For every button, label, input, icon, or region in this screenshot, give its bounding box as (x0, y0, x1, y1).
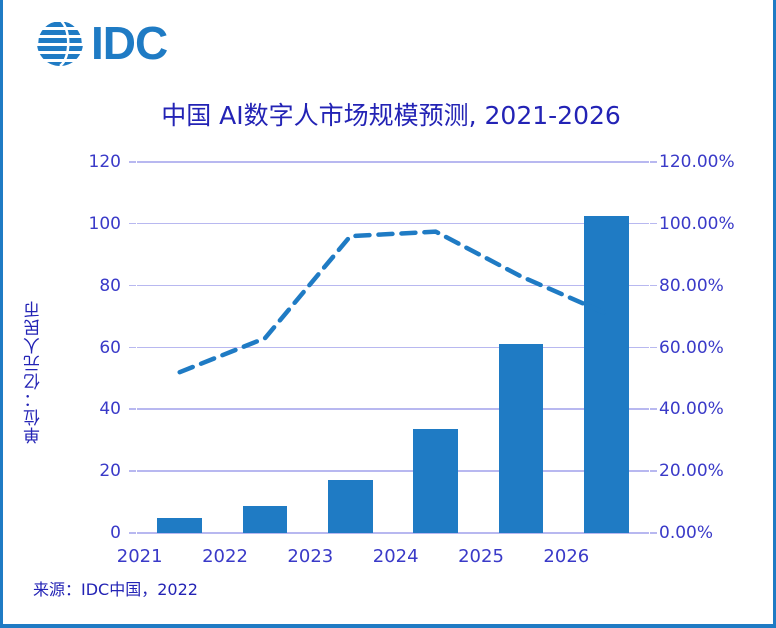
plot-area (137, 162, 649, 533)
y-right-tick-label: 60.00% (659, 338, 769, 358)
axis-tick (129, 285, 136, 287)
x-tick-label-2021: 2021 (100, 546, 180, 567)
logo-wordmark: IDC (91, 20, 167, 66)
x-tick-label-2023: 2023 (270, 546, 350, 567)
axis-tick (650, 532, 657, 534)
y-right-tick-label: 100.00% (659, 214, 769, 234)
globe-icon (31, 14, 89, 72)
y-axis-title: 单位：亿元人民币 (21, 300, 51, 444)
y-right-tick-label: 0.00% (659, 523, 769, 543)
y-left-tick-label: 60 (61, 338, 121, 358)
idc-logo: IDC (31, 14, 167, 72)
axis-tick (650, 408, 657, 410)
y-left-tick-label: 100 (61, 214, 121, 234)
y-right-tick-label: 20.00% (659, 461, 769, 481)
axis-tick (129, 223, 136, 225)
axis-tick (129, 408, 136, 410)
y-right-tick-label: 120.00% (659, 152, 769, 172)
growth-rate-line (137, 162, 649, 533)
y-left-tick-label: 20 (61, 461, 121, 481)
axis-tick (129, 532, 136, 534)
y-left-tick-label: 0 (61, 523, 121, 543)
axis-tick (129, 161, 136, 163)
axis-tick (129, 347, 136, 349)
axis-tick (650, 223, 657, 225)
y-left-tick-label: 80 (61, 276, 121, 296)
x-tick-label-2022: 2022 (185, 546, 265, 567)
chart-slide: IDC 中国 AI数字人市场规模预测, 2021-2026 单位：亿元人民币 0… (0, 0, 776, 628)
axis-tick (650, 161, 657, 163)
axis-tick (650, 347, 657, 349)
x-tick-label-2024: 2024 (356, 546, 436, 567)
y-right-tick-label: 40.00% (659, 399, 769, 419)
axis-tick (129, 470, 136, 472)
x-tick-label-2025: 2025 (441, 546, 521, 567)
chart-title: 中国 AI数字人市场规模预测, 2021-2026 (3, 96, 776, 132)
x-tick-label-2026: 2026 (526, 546, 606, 567)
y-right-tick-label: 80.00% (659, 276, 769, 296)
y-left-tick-label: 120 (61, 152, 121, 172)
axis-tick (650, 470, 657, 472)
y-left-tick-label: 40 (61, 399, 121, 419)
axis-tick (650, 285, 657, 287)
source-note: 来源：IDC中国，2022 (33, 576, 198, 600)
